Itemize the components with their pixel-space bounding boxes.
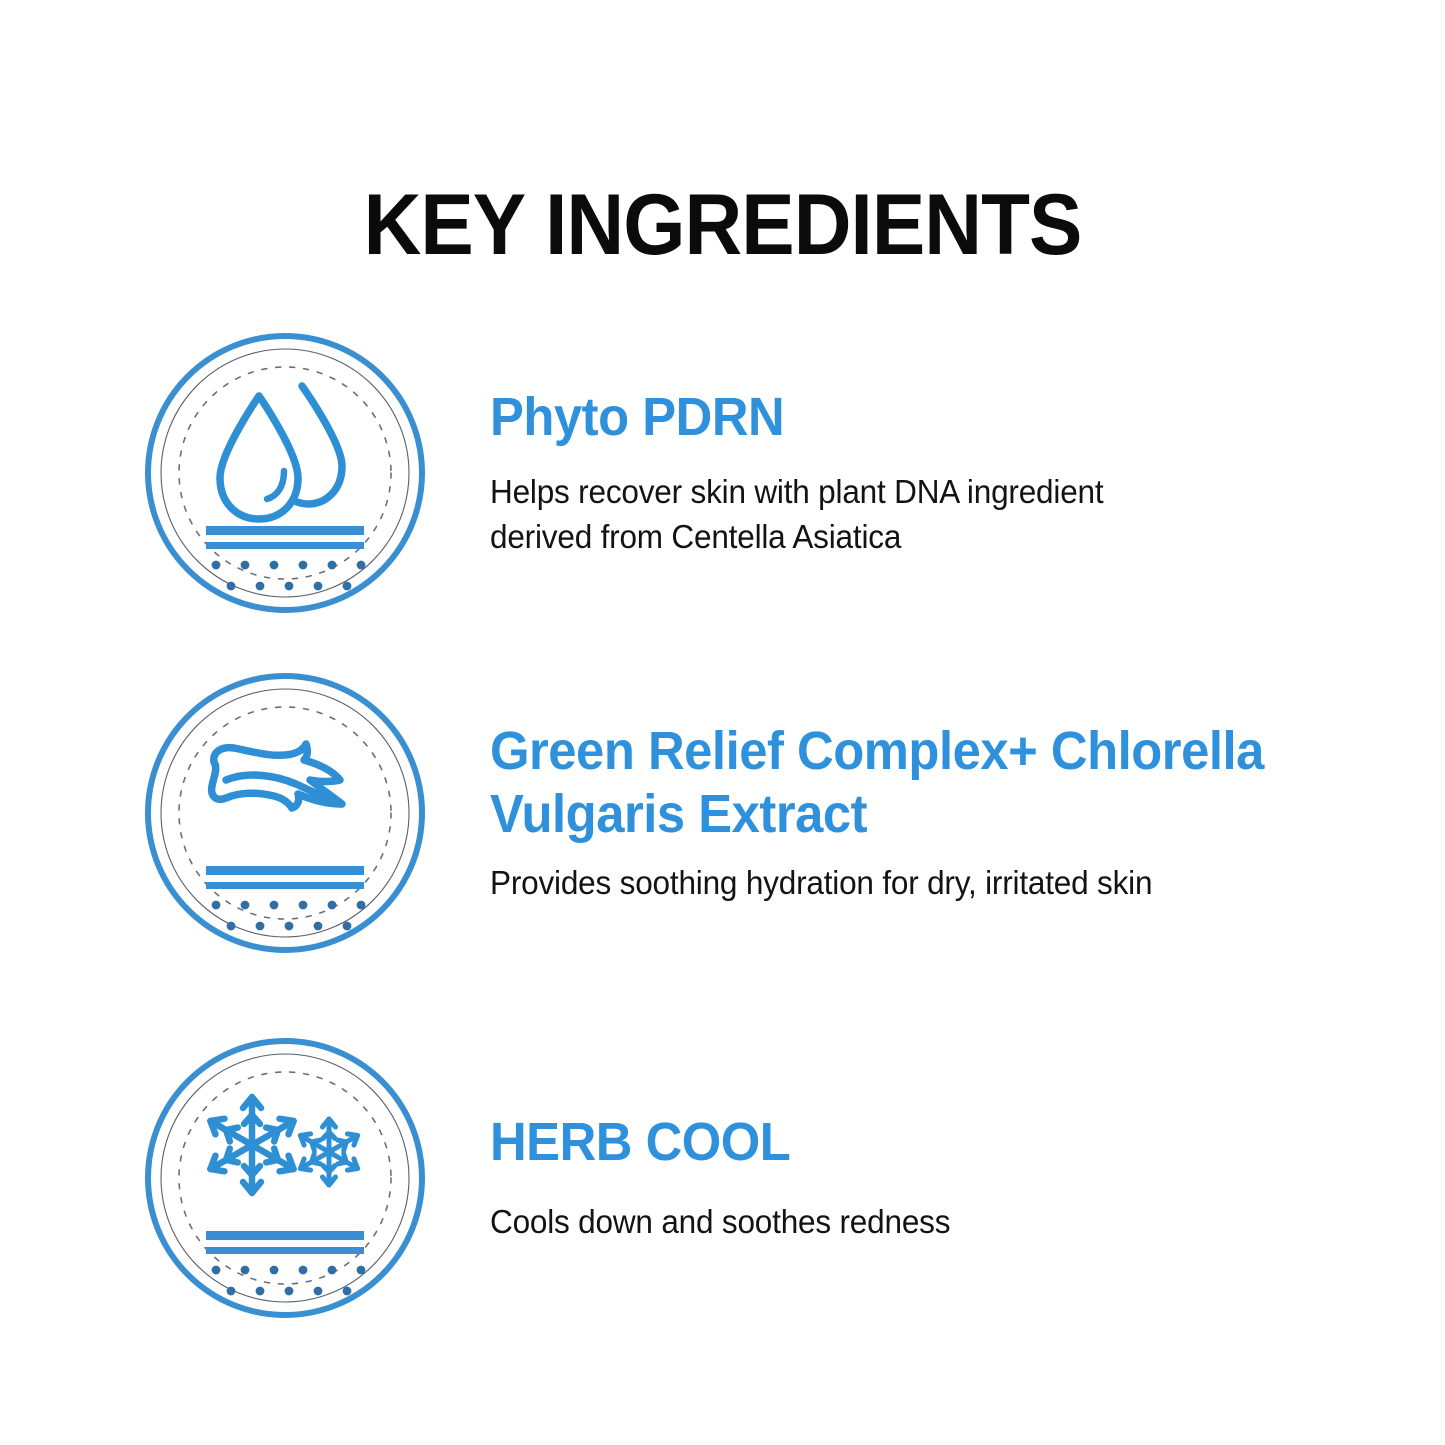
- water-droplet-skin-icon: [142, 330, 428, 616]
- ingredient-description: Helps recover skin with plant DNA ingred…: [490, 470, 1139, 560]
- ingredient-row: Green Relief Complex+ Chlorella Vulgaris…: [0, 670, 1445, 956]
- page-title: KEY INGREDIENTS: [51, 182, 1395, 268]
- ingredient-text: Green Relief Complex+ Chlorella Vulgaris…: [490, 720, 1445, 906]
- ingredient-text: Phyto PDRN Helps recover skin with plant…: [490, 386, 1445, 560]
- ingredient-name: Phyto PDRN: [490, 386, 1331, 449]
- ingredient-name: HERB COOL: [490, 1111, 1331, 1174]
- ingredient-row: Phyto PDRN Helps recover skin with plant…: [0, 330, 1445, 616]
- ingredient-description: Provides soothing hydration for dry, irr…: [490, 861, 1216, 906]
- ingredient-text: HERB COOL Cools down and soothes redness: [490, 1111, 1445, 1245]
- ingredient-name: Green Relief Complex+ Chlorella Vulgaris…: [490, 720, 1331, 845]
- leaf-feather-skin-icon: [142, 670, 428, 956]
- ingredient-description: Cools down and soothes redness: [490, 1200, 1139, 1245]
- snowflake-skin-icon: [142, 1035, 428, 1321]
- key-ingredients-page: KEY INGREDIENTS: [0, 0, 1445, 1445]
- ingredient-row: HERB COOL Cools down and soothes redness: [0, 1035, 1445, 1321]
